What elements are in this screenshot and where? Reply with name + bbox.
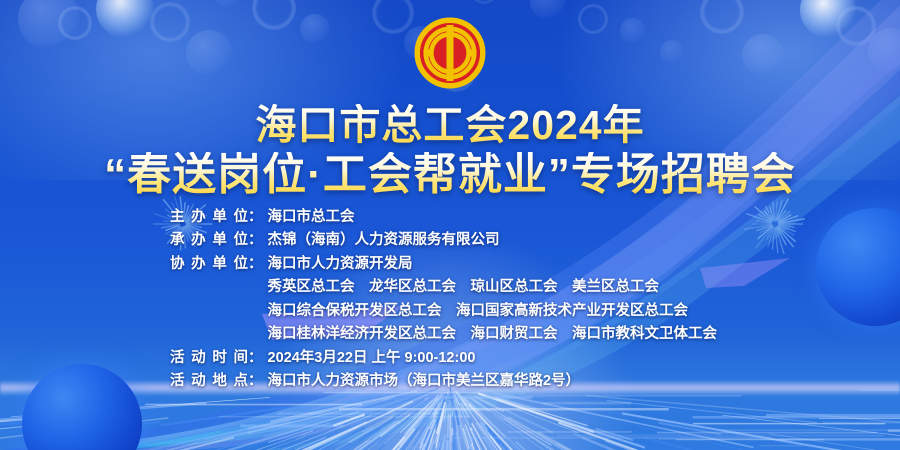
info-row: 主办单位：海口市总工会 <box>170 206 730 229</box>
info-label: 主办单位 <box>170 206 248 229</box>
bokeh-circle <box>620 18 646 44</box>
info-label: 活动时间 <box>170 347 248 370</box>
bokeh-circle <box>300 14 330 44</box>
event-poster: 海口市总工会2024年 “春送岗位·工会帮就业”专场招聘会 主办单位：海口市总工… <box>0 0 900 450</box>
acftu-emblem <box>411 14 489 92</box>
bokeh-circle <box>578 4 608 34</box>
info-label: 承办单位 <box>170 229 248 252</box>
info-value: 海口桂林洋经济开发区总工会 海口财贸工会 海口市教科文卫体工会 <box>263 323 718 346</box>
info-row: 主办单位：海口桂林洋经济开发区总工会 海口财贸工会 海口市教科文卫体工会 <box>170 323 730 346</box>
info-colon: ： <box>248 206 263 229</box>
info-value: 秀英区总工会 龙华区总工会 琼山区总工会 美兰区总工会 <box>263 276 660 299</box>
info-row: 主办单位：秀英区总工会 龙华区总工会 琼山区总工会 美兰区总工会 <box>170 276 730 299</box>
poster-title-group: 海口市总工会2024年 “春送岗位·工会帮就业”专场招聘会 <box>0 104 900 199</box>
bokeh-circle <box>530 0 566 20</box>
info-colon: ： <box>248 253 263 276</box>
info-label: 协办单位 <box>170 253 248 276</box>
info-colon: ： <box>248 347 263 370</box>
bokeh-circle <box>372 0 414 34</box>
event-details: 主办单位：海口市总工会承办单位：杰锦（海南）人力资源服务有限公司协办单位：海口市… <box>0 206 900 394</box>
bokeh-circle <box>836 6 876 46</box>
bokeh-circle <box>186 30 232 76</box>
bokeh-circle <box>18 0 80 50</box>
bokeh-circle <box>214 0 244 8</box>
title-main: 海口市总工会2024年 <box>0 104 900 147</box>
info-row: 协办单位：海口市人力资源开发局 <box>170 253 730 276</box>
bokeh-circle <box>700 0 744 34</box>
info-row: 活动地点：海口市人力资源市场（海口市美兰区嘉华路2号） <box>170 370 730 393</box>
bokeh-circle <box>96 0 154 38</box>
info-value: 海口综合保税开发区总工会 海口国家高新技术产业开发区总工会 <box>263 300 689 323</box>
bokeh-circle <box>800 0 856 38</box>
info-row: 承办单位：杰锦（海南）人力资源服务有限公司 <box>170 229 730 252</box>
info-value: 海口市人力资源开发局 <box>263 253 413 276</box>
bokeh-circle <box>252 0 296 30</box>
info-value: 海口市总工会 <box>263 206 355 229</box>
perspective-speed-lines <box>0 386 900 450</box>
info-value: 海口市人力资源市场（海口市美兰区嘉华路2号） <box>263 370 581 393</box>
bokeh-circle <box>742 34 784 76</box>
bokeh-circle <box>150 2 190 42</box>
info-colon: ： <box>248 370 263 393</box>
info-label: 活动地点 <box>170 370 248 393</box>
info-colon: ： <box>248 229 263 252</box>
bokeh-circle <box>660 40 684 64</box>
info-value: 杰锦（海南）人力资源服务有限公司 <box>263 229 500 252</box>
info-value: 2024年3月22日 上午 9:00-12:00 <box>263 347 476 370</box>
bokeh-circle <box>868 28 900 74</box>
info-row: 活动时间：2024年3月22日 上午 9:00-12:00 <box>170 347 730 370</box>
bokeh-circle <box>58 6 92 40</box>
bokeh-circle <box>470 0 498 4</box>
info-row: 主办单位：海口综合保税开发区总工会 海口国家高新技术产业开发区总工会 <box>170 300 730 323</box>
title-subtitle: “春送岗位·工会帮就业”专场招聘会 <box>0 152 900 199</box>
